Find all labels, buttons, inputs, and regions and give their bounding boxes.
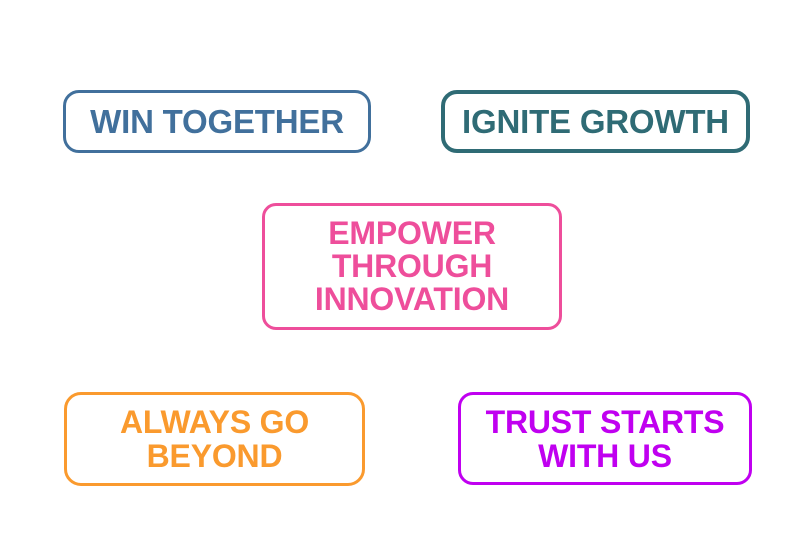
- slogan-chip-always-go-beyond[interactable]: ALWAYS GO BEYOND: [64, 392, 365, 486]
- slogan-label-empower-through-innovation: EMPOWER THROUGH INNOVATION: [265, 217, 559, 316]
- slogan-canvas: WIN TOGETHER IGNITE GROWTH EMPOWER THROU…: [0, 0, 800, 540]
- slogan-chip-ignite-growth[interactable]: IGNITE GROWTH: [441, 90, 750, 153]
- slogan-label-win-together: WIN TOGETHER: [66, 104, 368, 140]
- slogan-label-always-go-beyond: ALWAYS GO BEYOND: [67, 405, 362, 473]
- slogan-label-ignite-growth: IGNITE GROWTH: [445, 104, 746, 140]
- slogan-chip-trust-starts-with-us[interactable]: TRUST STARTS WITH US: [458, 392, 752, 485]
- slogan-chip-empower-through-innovation[interactable]: EMPOWER THROUGH INNOVATION: [262, 203, 562, 330]
- slogan-chip-win-together[interactable]: WIN TOGETHER: [63, 90, 371, 153]
- slogan-label-trust-starts-with-us: TRUST STARTS WITH US: [461, 405, 749, 473]
